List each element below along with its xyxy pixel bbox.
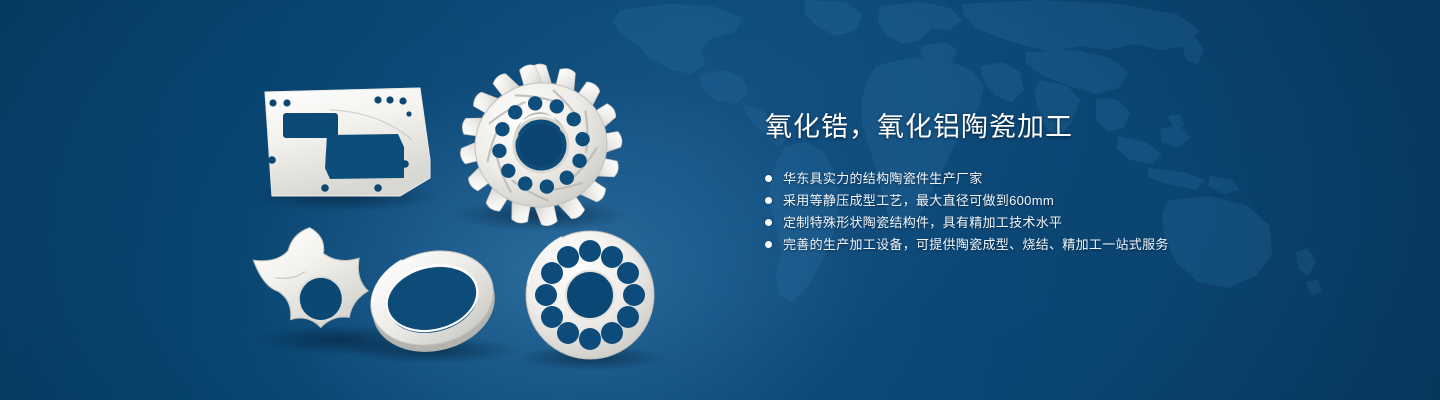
list-item: 完善的生产加工设备，可提供陶瓷成型、烧结、精加工一站式服务 (765, 234, 1385, 255)
ceramic-perforated-disc-product (526, 231, 654, 359)
ceramic-plate-product (265, 88, 430, 196)
list-item: 采用等静压成型工艺，最大直径可做到600mm (765, 190, 1385, 211)
banner-copy: 氧化锆，氧化铝陶瓷加工 华东具实力的结构陶瓷件生产厂家 采用等静压成型工艺，最大… (765, 108, 1385, 256)
bullet-dot-icon (765, 197, 772, 204)
feature-text: 采用等静压成型工艺，最大直径可做到600mm (783, 190, 1054, 211)
list-item: 华东具实力的结构陶瓷件生产厂家 (765, 168, 1385, 189)
bullet-dot-icon (765, 175, 772, 182)
page-title: 氧化锆，氧化铝陶瓷加工 (765, 108, 1385, 146)
bullet-dot-icon (765, 219, 772, 226)
bullet-dot-icon (765, 241, 772, 248)
ceramic-cross-vane-product (249, 219, 373, 339)
feature-text: 华东具实力的结构陶瓷件生产厂家 (783, 168, 983, 189)
feature-text: 完善的生产加工设备，可提供陶瓷成型、烧结、精加工一站式服务 (783, 234, 1169, 255)
promo-banner: 氧化锆，氧化铝陶瓷加工 华东具实力的结构陶瓷件生产厂家 采用等静压成型工艺，最大… (0, 0, 1440, 400)
feature-text: 定制特殊形状陶瓷结构件，具有精加工技术水平 (783, 212, 1062, 233)
feature-list: 华东具实力的结构陶瓷件生产厂家 采用等静压成型工艺，最大直径可做到600mm 定… (765, 168, 1385, 255)
list-item: 定制特殊形状陶瓷结构件，具有精加工技术水平 (765, 212, 1385, 233)
